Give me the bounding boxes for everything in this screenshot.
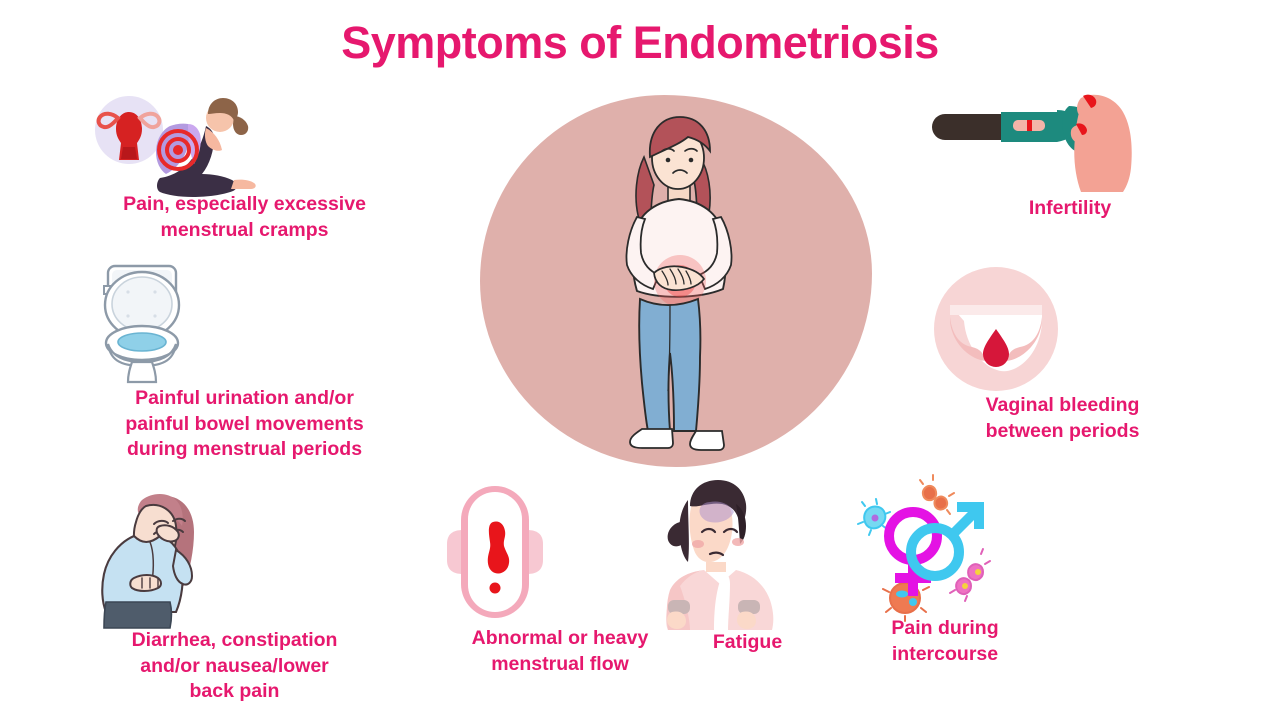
symptom-caption: Diarrhea, constipation and/or nausea/low…	[72, 628, 397, 705]
pregnancy-test-icon	[935, 92, 1205, 196]
symptom-fatigue: Fatigue	[650, 478, 845, 656]
symptom-infertility: Infertility	[935, 92, 1205, 222]
symptom-caption: Infertility	[935, 196, 1205, 222]
woman-with-uterus-pain-icon	[82, 92, 407, 192]
symptom-caption: Fatigue	[650, 630, 845, 656]
woman-holding-abdomen-illustration	[592, 113, 772, 453]
gender-symbols-icon	[845, 474, 1045, 616]
symptom-caption: Painful urination and/or painful bowel m…	[82, 386, 407, 463]
symptom-caption: Abnormal or heavy menstrual flow	[435, 626, 685, 677]
toilet-icon	[82, 258, 407, 386]
symptom-menstrual-cramps: Pain, especially excessive menstrual cra…	[82, 92, 407, 243]
underwear-blood-drop-icon	[930, 265, 1195, 393]
symptom-caption: Pain during intercourse	[845, 616, 1045, 667]
symptom-painful-intercourse: Pain during intercourse	[845, 474, 1045, 667]
symptom-digestive-issues: Diarrhea, constipation and/or nausea/low…	[72, 490, 397, 705]
symptom-heavy-flow: Abnormal or heavy menstrual flow	[435, 478, 685, 677]
tired-woman-icon	[650, 478, 845, 630]
nauseated-woman-icon	[72, 490, 397, 628]
symptom-painful-urination: Painful urination and/or painful bowel m…	[82, 258, 407, 463]
sanitary-pad-icon	[435, 478, 685, 626]
infographic-canvas: Symptoms of Endometriosis	[0, 0, 1280, 720]
symptom-spotting: Vaginal bleeding between periods	[930, 265, 1195, 444]
symptom-caption: Vaginal bleeding between periods	[930, 393, 1195, 444]
symptom-caption: Pain, especially excessive menstrual cra…	[82, 192, 407, 243]
page-title: Symptoms of Endometriosis	[0, 18, 1280, 68]
hero-illustration	[480, 95, 872, 467]
